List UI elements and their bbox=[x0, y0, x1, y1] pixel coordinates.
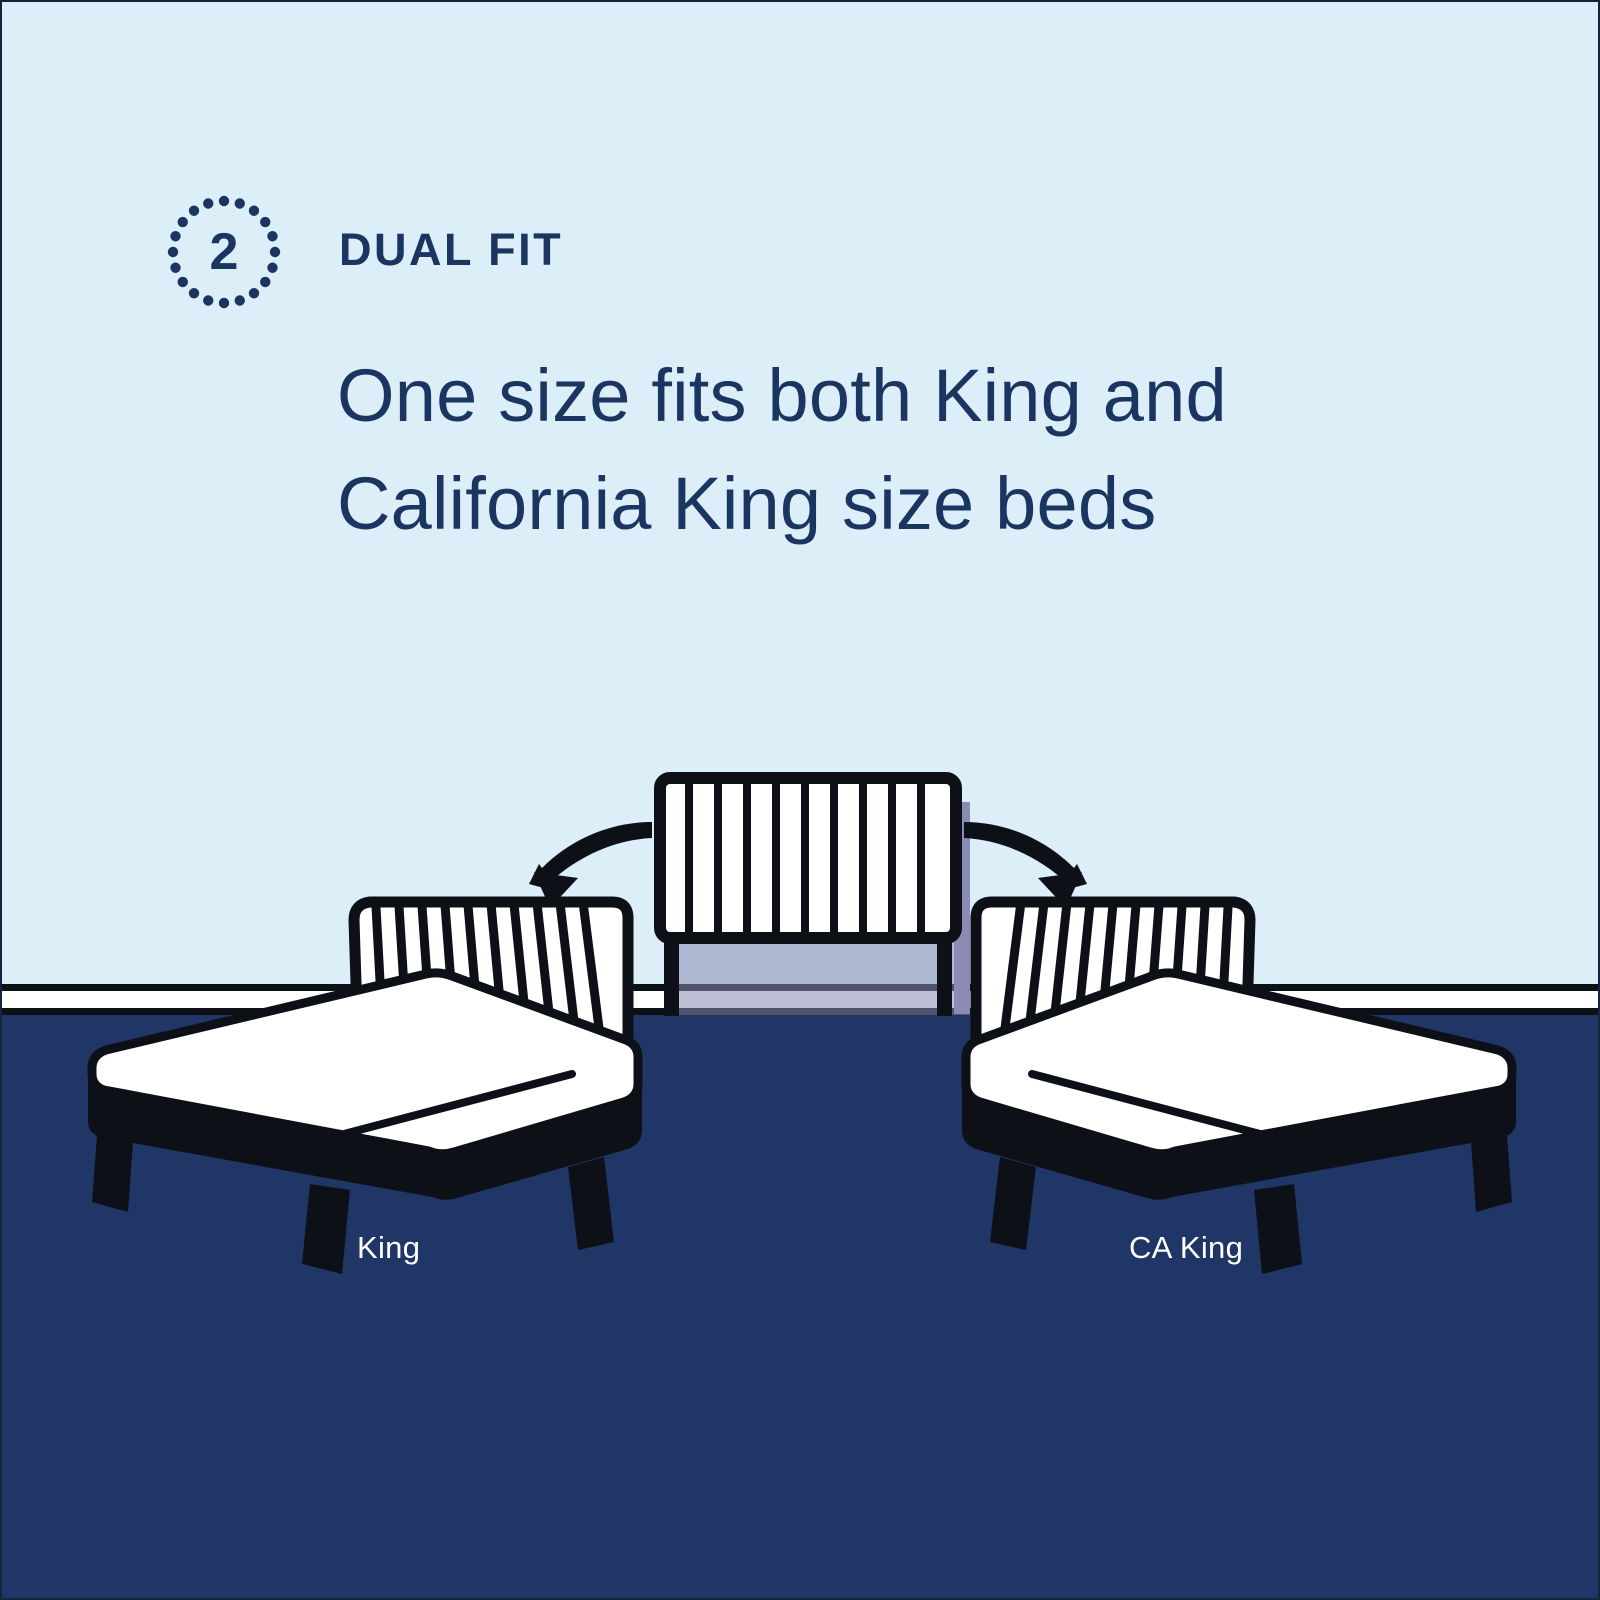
illustration-canvas: 2 DUAL FIT One size fits both King and C… bbox=[0, 0, 1600, 1600]
section-eyebrow: DUAL FIT bbox=[339, 224, 563, 276]
step-badge: 2 bbox=[164, 192, 284, 312]
step-number: 2 bbox=[164, 192, 284, 312]
right-bed-caption: CA King bbox=[1129, 1230, 1243, 1266]
left-bed-caption: King bbox=[357, 1230, 420, 1266]
floor-background bbox=[2, 1015, 1600, 1600]
page-headline: One size fits both King and California K… bbox=[337, 342, 1477, 558]
baseboard-bottom-line bbox=[2, 1008, 1600, 1015]
baseboard bbox=[2, 991, 1600, 1008]
baseboard-top-line bbox=[2, 984, 1600, 991]
headline-line-1: One size fits both King and bbox=[337, 342, 1477, 450]
headline-line-2: California King size beds bbox=[337, 450, 1477, 558]
